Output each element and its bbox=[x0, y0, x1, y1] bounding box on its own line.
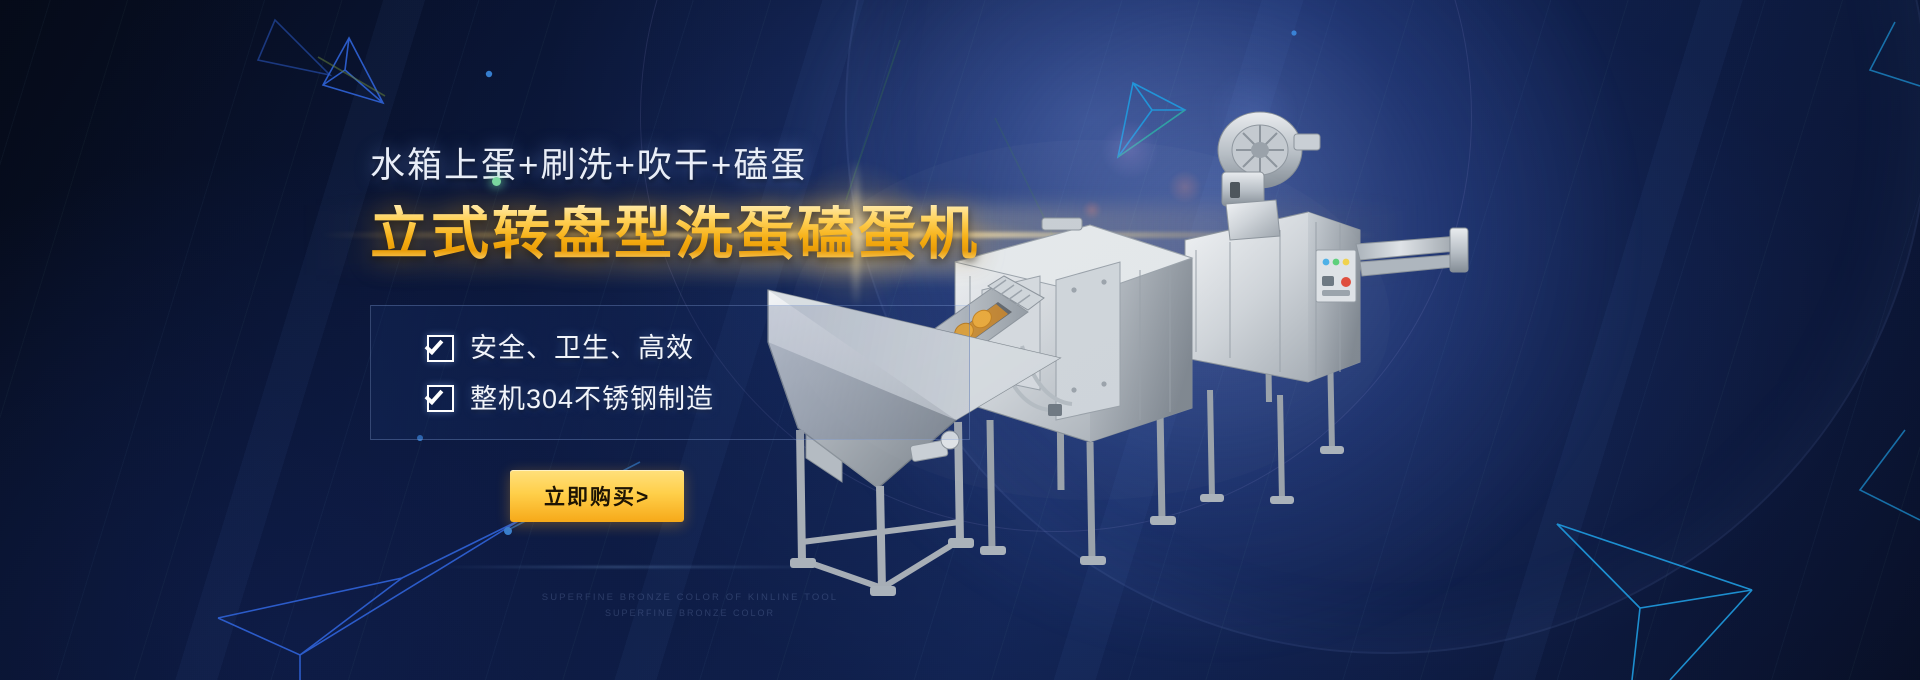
banner-title: 立式转盘型洗蛋磕蛋机 bbox=[370, 205, 1010, 263]
wireframe-tetra-left-mid bbox=[258, 20, 330, 75]
banner-title-wrap: 立式转盘型洗蛋磕蛋机 bbox=[370, 205, 1010, 271]
feature-item: 整机304不锈钢制造 bbox=[427, 379, 969, 420]
feature-list: 安全、卫生、高效 整机304不锈钢制造 bbox=[370, 305, 970, 440]
feature-item: 安全、卫生、高效 bbox=[427, 328, 969, 369]
banner-subtitle: 水箱上蛋+刷洗+吹干+磕蛋 bbox=[370, 148, 1010, 183]
promo-banner: 水箱上蛋+刷洗+吹干+磕蛋 立式转盘型洗蛋磕蛋机 安全、卫生、高效 整机304不… bbox=[0, 0, 1920, 680]
wireframe-tetra-bottomleft bbox=[218, 520, 520, 680]
checkbox-checked-icon bbox=[427, 335, 454, 362]
banner-copy: 水箱上蛋+刷洗+吹干+磕蛋 立式转盘型洗蛋磕蛋机 安全、卫生、高效 整机304不… bbox=[370, 148, 1010, 522]
checkbox-checked-icon bbox=[427, 385, 454, 412]
accent-dot-icon bbox=[492, 177, 501, 186]
feature-label: 整机304不锈钢制造 bbox=[470, 379, 714, 420]
feature-label: 安全、卫生、高效 bbox=[470, 328, 694, 369]
watermark-line-2: SUPERFINE BRONZE COLOR bbox=[370, 606, 1010, 621]
wireframe-tetra-topleft bbox=[318, 38, 385, 103]
buy-now-button[interactable]: 立即购买> bbox=[510, 470, 684, 522]
